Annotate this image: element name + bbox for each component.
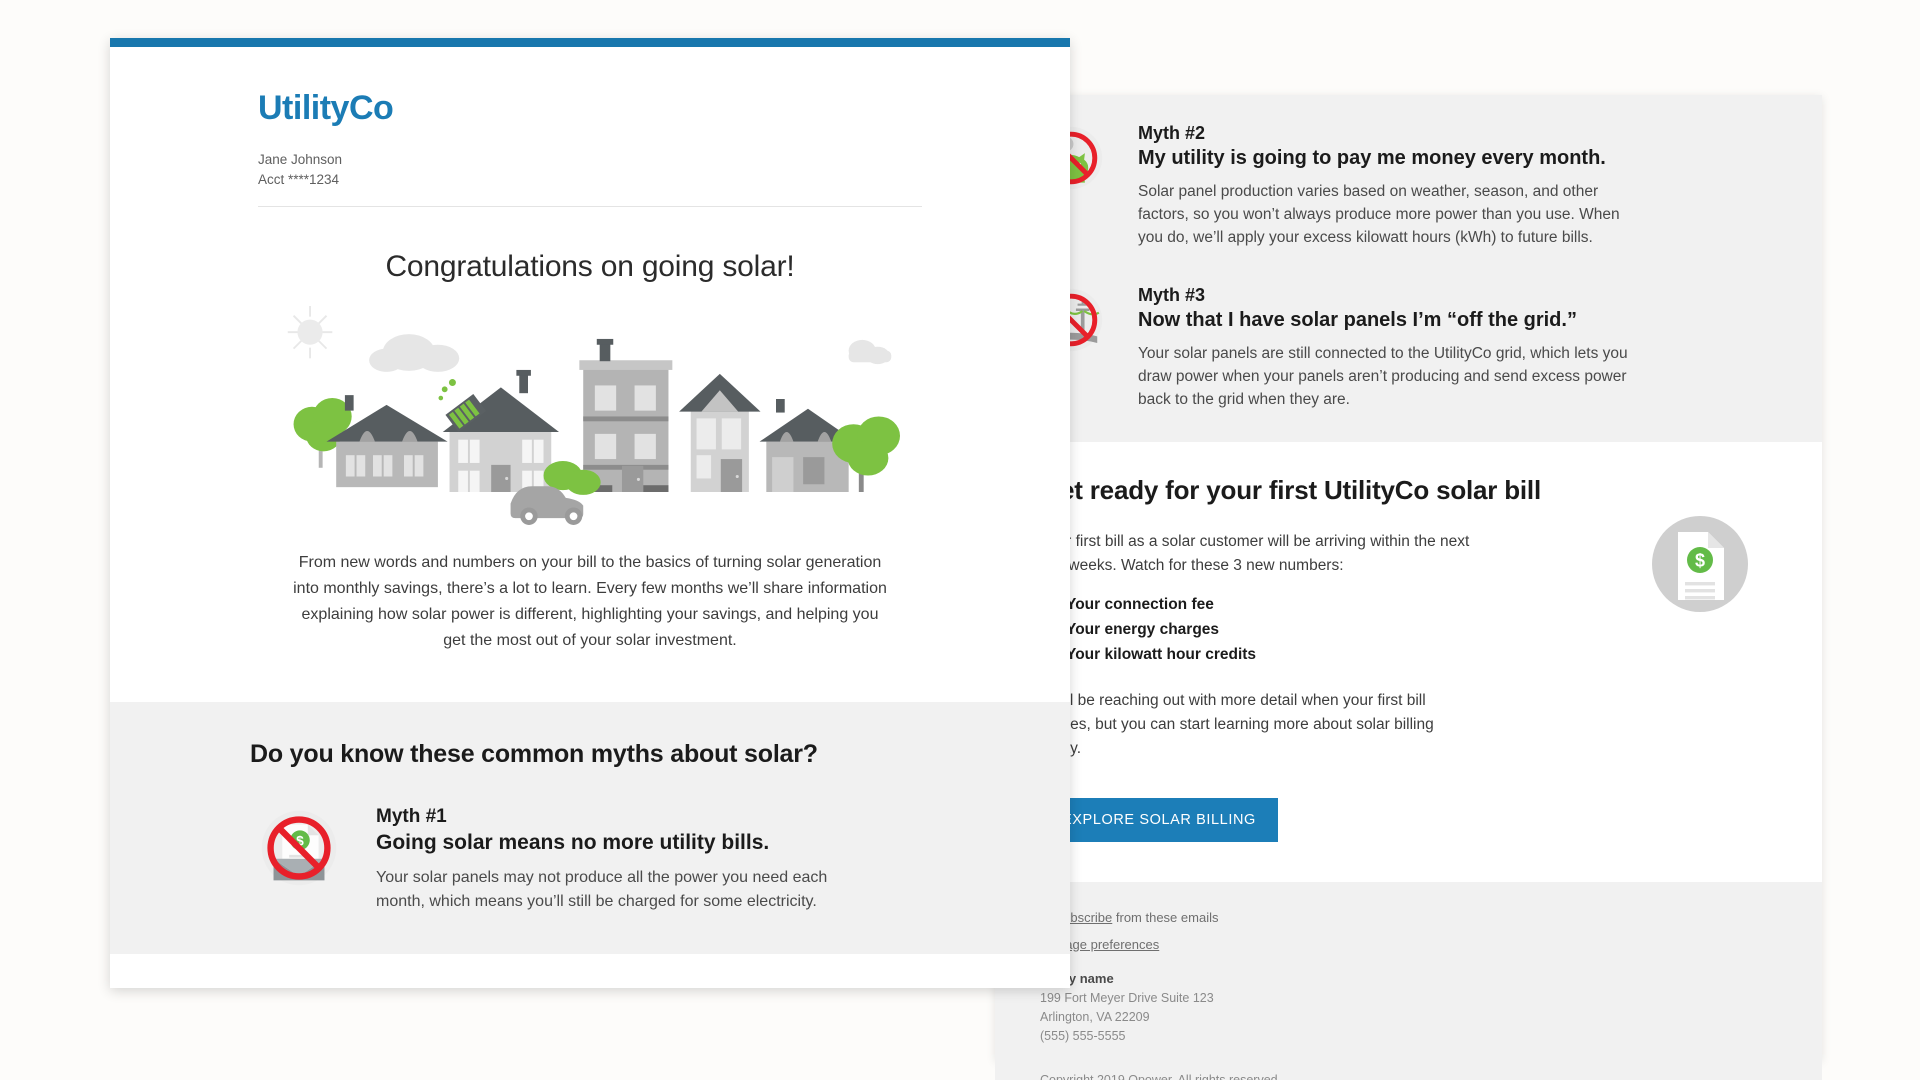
email-preview-stage: $ Myth #2 My utility is going to pay me … [0,0,1920,1080]
myths-section: Do you know these common myths about sol… [110,702,1070,954]
list-item: Your energy charges [1066,617,1470,642]
myth-body-text: Your solar panels are still connected to… [1138,342,1638,412]
copyright-line: Copyright 2019 Opower. All rights reserv… [1040,1073,1782,1080]
myth-item: Myth #3 Now that I have solar panels I’m… [995,279,1822,411]
myths-continued-section: $ Myth #2 My utility is going to pay me … [995,95,1822,442]
account-info: Jane Johnson Acct ****1234 [258,150,1070,189]
myth-body-text: Your solar panels may not produce all th… [376,866,876,914]
first-bill-title: Get ready for your first UtilityCo solar… [1040,475,1782,506]
recipient-name: Jane Johnson [258,150,1070,170]
first-bill-section: Get ready for your first UtilityCo solar… [995,442,1822,882]
myth-headline: Now that I have solar panels I’m “off th… [1138,307,1782,333]
new-numbers-list: Your connection fee Your energy charges … [1066,592,1470,667]
address-line-1: 199 Fort Meyer Drive Suite 123 [1040,989,1782,1008]
myth-headline: Going solar means no more utility bills. [376,829,876,856]
brand-logo: UtilityCo [258,89,1070,128]
solar-neighborhood-illustration [110,298,1070,536]
myth-number: Myth #1 [376,805,876,829]
phone-number: (555) 555-5555 [1040,1027,1782,1046]
list-item: Your kilowatt hour credits [1066,642,1470,667]
unsubscribe-rest: from these emails [1112,910,1218,925]
email-continuation-panel: $ Myth #2 My utility is going to pay me … [995,95,1822,1060]
page-title: Congratulations on going solar! [110,250,1070,284]
svg-text:$: $ [1695,550,1705,570]
first-bill-paragraph-1: Your first bill as a solar customer will… [1040,530,1470,578]
first-bill-paragraph-2: We’ll be reaching out with more detail w… [1040,689,1470,761]
account-number: Acct ****1234 [258,170,1070,190]
myth-headline: My utility is going to pay me money ever… [1138,145,1782,171]
intro-paragraph: From new words and numbers on your bill … [290,550,890,654]
explore-solar-billing-button[interactable]: EXPLORE SOLAR BILLING [1040,798,1278,842]
address-line-2: Arlington, VA 22209 [1040,1008,1782,1027]
myth-number: Myth #2 [1138,122,1782,145]
email-header: UtilityCo Jane Johnson Acct ****1234 [110,47,1070,189]
no-bill-icon: $ [250,799,348,897]
email-footer: Unsubscribe from these emails Manage pre… [995,882,1822,1080]
company-name: Utility name [1040,969,1782,989]
myth-body-text: Solar panel production varies based on w… [1138,180,1638,250]
myth-item: $ Myth #1 Going solar means no more util… [110,799,1070,914]
myths-section-title: Do you know these common myths about sol… [110,740,1070,769]
email-main-panel: UtilityCo Jane Johnson Acct ****1234 Con… [110,38,1070,988]
list-item: Your connection fee [1066,592,1470,617]
unsubscribe-line: Unsubscribe from these emails [1040,909,1782,928]
company-address: Utility name 199 Fort Meyer Drive Suite … [1040,969,1782,1047]
manage-preferences-line: Manage preferences [1040,936,1782,955]
solar-bill-document-icon: $ [1640,504,1760,624]
myth-item: $ Myth #2 My utility is going to pay me … [995,117,1822,249]
myth-number: Myth #3 [1138,284,1782,307]
header-divider [258,206,922,207]
brand-accent-bar [110,38,1070,47]
